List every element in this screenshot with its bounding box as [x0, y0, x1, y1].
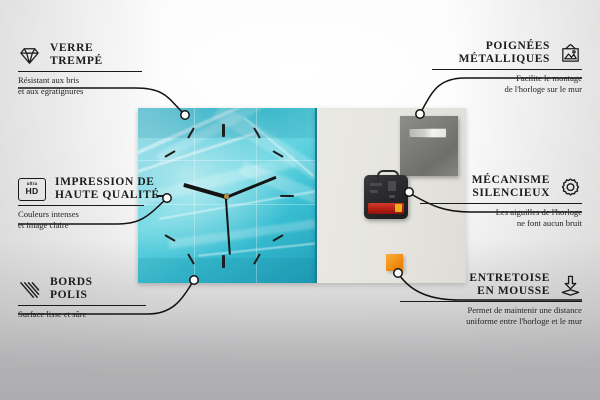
diamond-icon	[18, 44, 41, 67]
battery-terminal	[395, 204, 402, 212]
callout-mecanisme-silencieux[interactable]: MÉCANISME SILENCIEUX Les aiguilles de l'…	[420, 174, 582, 228]
callout-subtitle: Permet de maintenir une distance uniform…	[400, 305, 582, 326]
callout-subtitle: Couleurs intenses et image claire	[18, 209, 178, 230]
foam-spacer-icon	[559, 274, 582, 297]
callout-rule	[432, 69, 582, 70]
callout-title: POIGNÉES MÉTALLIQUES	[432, 40, 550, 66]
picture-frame-icon	[559, 42, 582, 65]
callout-title: VERRE TREMPÉ	[50, 42, 103, 68]
gear-icon	[559, 176, 582, 199]
hanger-slot	[409, 128, 447, 138]
mechanism-hook	[377, 170, 399, 181]
callout-rule	[18, 71, 142, 72]
callout-subtitle: Les aiguilles de l'horloge ne font aucun…	[420, 207, 582, 228]
hanger-plate	[400, 116, 458, 176]
callout-subtitle: Résistant aux bris et aux égratignures	[18, 75, 168, 96]
infographic-stage: VERRE TREMPÉ Résistant aux bris et aux é…	[0, 0, 600, 400]
callout-impression-hd[interactable]: ultra HD IMPRESSION DE HAUTE QUALITÉ Cou…	[18, 176, 178, 230]
callout-poignees-metalliques[interactable]: POIGNÉES MÉTALLIQUES Facilite le montage…	[432, 40, 582, 94]
callout-title: IMPRESSION DE HAUTE QUALITÉ	[55, 176, 160, 202]
callout-title: BORDS POLIS	[50, 276, 93, 302]
hd-icon-hd-label: HD	[25, 187, 38, 196]
callout-subtitle: Facilite le montage de l'horloge sur le …	[432, 73, 582, 94]
callout-title: ENTRETOISE EN MOUSSE	[400, 272, 550, 298]
callout-subtitle: Surface lisse et sûre	[18, 309, 168, 319]
product-image	[138, 108, 464, 283]
polished-edges-icon	[18, 278, 41, 301]
callout-rule	[400, 301, 582, 302]
ultra-hd-icon: ultra HD	[18, 178, 46, 201]
clock-battery	[368, 203, 404, 214]
callout-rule	[18, 305, 146, 306]
callout-rule	[18, 205, 144, 206]
callout-verre-trempe[interactable]: VERRE TREMPÉ Résistant aux bris et aux é…	[18, 42, 168, 96]
callout-rule	[420, 203, 582, 204]
foam-spacer	[386, 254, 403, 271]
callout-entretoise-en-mousse[interactable]: ENTRETOISE EN MOUSSE Permet de maintenir…	[400, 272, 582, 326]
callout-bords-polis[interactable]: BORDS POLIS Surface lisse et sûre	[18, 276, 168, 320]
clock-mechanism	[364, 175, 408, 219]
clock-hub	[224, 194, 229, 199]
callout-title: MÉCANISME SILENCIEUX	[420, 174, 550, 200]
